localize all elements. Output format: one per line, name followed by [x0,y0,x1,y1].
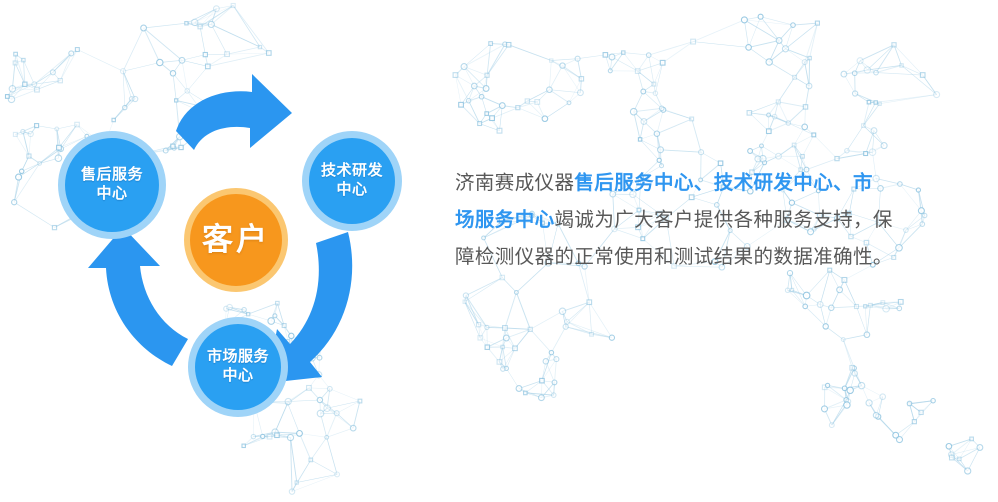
description-line2-highlight: 场服务中心 [455,209,555,231]
arrow-after-sales-to-rnd [176,74,292,150]
node-after-sales-service-center[interactable]: 售后服务中心 [58,131,166,239]
service-description-text: 济南赛成仪器售后服务中心、技术研发中心、市 场服务中心竭诚为广大客户提供各种服务… [455,165,925,276]
node-customer-label: 客户 [198,221,274,260]
page-root: 售后服务中心 技术研发中心 市场服务中心 客户 济南赛成仪器售后服务中心、技术研… [0,0,998,502]
node-rnd-label: 技术研发中心 [317,162,387,200]
description-line2-plain: 竭诚为广大客户提供各种服务支持，保 [555,209,893,231]
description-line1-highlight: 售后服务中心、技术研发中心、市 [574,172,873,194]
node-after-sales-label: 售后服务中心 [77,166,147,204]
arrow-market-to-after-sales [88,227,188,366]
node-technical-rnd-center[interactable]: 技术研发中心 [302,131,402,231]
description-line3-plain: 障检测仪器的正常使用和测试结果的数据准确性。 [455,246,893,268]
node-market-service-center[interactable]: 市场服务中心 [188,317,288,417]
description-line-2: 场服务中心竭诚为广大客户提供各种服务支持，保 [455,202,925,239]
description-line-3: 障检测仪器的正常使用和测试结果的数据准确性。 [455,239,925,276]
description-line-1: 济南赛成仪器售后服务中心、技术研发中心、市 [455,165,925,202]
service-cycle-diagram: 售后服务中心 技术研发中心 市场服务中心 客户 [0,0,440,502]
description-line1-plain: 济南赛成仪器 [455,172,574,194]
node-customer-center[interactable]: 客户 [184,188,288,292]
node-market-label: 市场服务中心 [203,348,273,386]
